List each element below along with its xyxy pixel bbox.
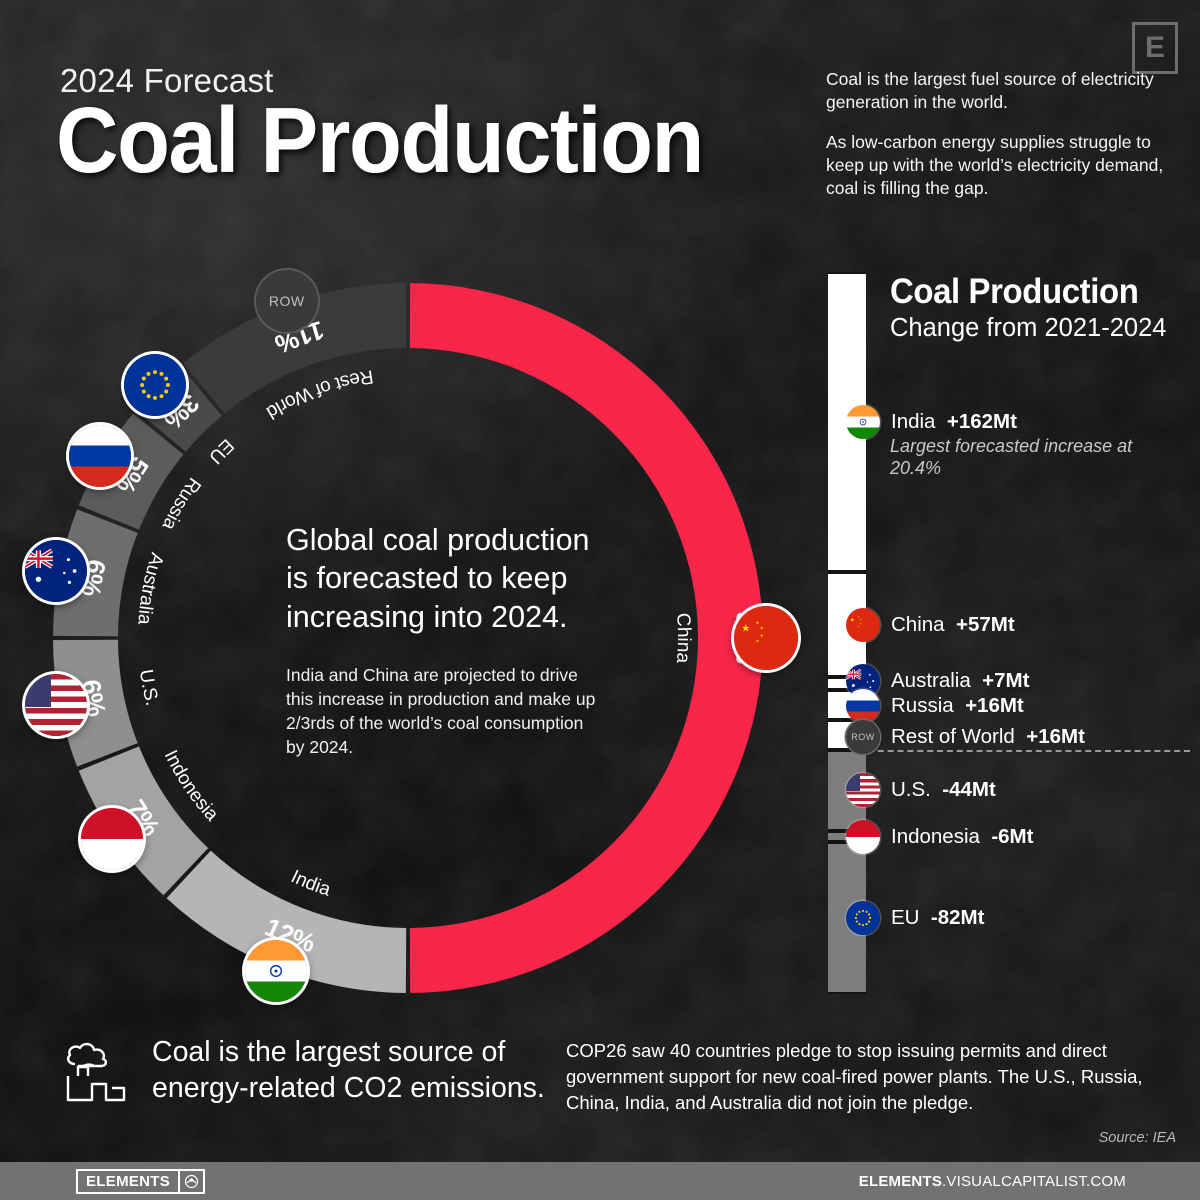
donut-flag-indonesia xyxy=(81,808,143,870)
elements-badge-icon: E xyxy=(1132,22,1178,74)
name-label-u-s-: U.S. xyxy=(135,668,162,708)
legend-label-india: India +162Mt xyxy=(891,410,1017,434)
elements-wordmark: ELEMENTS xyxy=(78,1171,178,1192)
co2-statement: Coal is the largest source of energy-rel… xyxy=(152,1035,552,1107)
center-body-text: India and China are projected to drive t… xyxy=(286,664,606,760)
legend-row-u-s-: U.S. -44Mt xyxy=(846,773,996,807)
donut-flag-australia xyxy=(25,540,87,602)
donut-flag-russia xyxy=(69,425,131,487)
elements-footer-logo[interactable]: ELEMENTS xyxy=(76,1169,205,1194)
legend-row-china: China +57Mt xyxy=(846,608,1015,642)
legend-label-russia: Russia +16Mt xyxy=(891,694,1024,718)
legend-row-eu: EU -82Mt xyxy=(846,901,984,935)
legend-row-india: India +162Mt xyxy=(846,405,1017,439)
factory-icon xyxy=(62,1036,134,1109)
donut-flag-eu xyxy=(124,354,186,416)
name-label-russia: Russia xyxy=(157,473,204,533)
name-label-china: China xyxy=(672,612,694,664)
legend-row-russia: Russia +16Mt xyxy=(846,689,1024,723)
legend-subtitle: Change from 2021-2024 xyxy=(890,314,1166,343)
legend-row-indonesia: Indonesia -6Mt xyxy=(846,820,1033,854)
intro-paragraph-1: Coal is the largest fuel source of elect… xyxy=(826,68,1178,114)
name-label-australia: Australia xyxy=(133,550,167,626)
legend-title: Coal Production xyxy=(890,272,1138,312)
footer-url[interactable]: ELEMENTS.VISUALCAPITALIST.COM xyxy=(859,1173,1126,1190)
donut-chart: 50%China12%India7%Indonesia6%U.S.6%Austr… xyxy=(28,258,788,1018)
india-note: Largest forecasted increase at 20.4% xyxy=(890,436,1140,479)
legend-label-u-s-: U.S. -44Mt xyxy=(891,778,996,802)
donut-flag-u-s- xyxy=(25,674,87,736)
legend-label-china: China +57Mt xyxy=(891,613,1015,637)
cop26-statement: COP26 saw 40 countries pledge to stop is… xyxy=(566,1038,1176,1116)
legend-row-rest-of-world: ROWRest of World +16Mt xyxy=(846,720,1085,754)
infographic-canvas: E 2024 Forecast Coal Production Coal is … xyxy=(0,0,1200,1200)
footer-url-rest: .VISUALCAPITALIST.COM xyxy=(942,1173,1126,1190)
legend-flag-cn xyxy=(846,608,880,642)
donut-flag-rest-of-world: ROW xyxy=(256,270,318,332)
legend-flag-in xyxy=(846,405,880,439)
change-legend-panel: Coal Production Change from 2021-2024 In… xyxy=(828,272,1190,994)
footer-url-bold: ELEMENTS xyxy=(859,1173,942,1190)
footer-bar: ELEMENTS ELEMENTS.VISUALCAPITALIST.COM xyxy=(0,1162,1200,1200)
legend-flag-ru xyxy=(846,689,880,723)
source-note: Source: IEA xyxy=(1099,1130,1176,1146)
legend-flag-eu xyxy=(846,901,880,935)
elements-mark-icon xyxy=(178,1171,203,1192)
page-title: Coal Production xyxy=(56,96,703,185)
legend-flag-us xyxy=(846,773,880,807)
legend-flag-id xyxy=(846,820,880,854)
donut-segment-china xyxy=(410,283,763,993)
donut-flag-india xyxy=(245,940,307,1002)
name-label-eu: EU xyxy=(204,434,237,467)
intro-block: Coal is the largest fuel source of elect… xyxy=(826,68,1178,200)
center-headline: Global coal production is forecasted to … xyxy=(286,521,616,636)
legend-label-rest-of-world: Rest of World +16Mt xyxy=(891,725,1085,749)
legend-label-eu: EU -82Mt xyxy=(891,906,984,930)
donut-flag-china xyxy=(734,606,798,670)
legend-flag-row: ROW xyxy=(846,720,880,754)
name-label-india: India xyxy=(288,866,334,901)
intro-paragraph-2: As low-carbon energy supplies struggle t… xyxy=(826,131,1178,200)
legend-label-indonesia: Indonesia -6Mt xyxy=(891,825,1033,849)
